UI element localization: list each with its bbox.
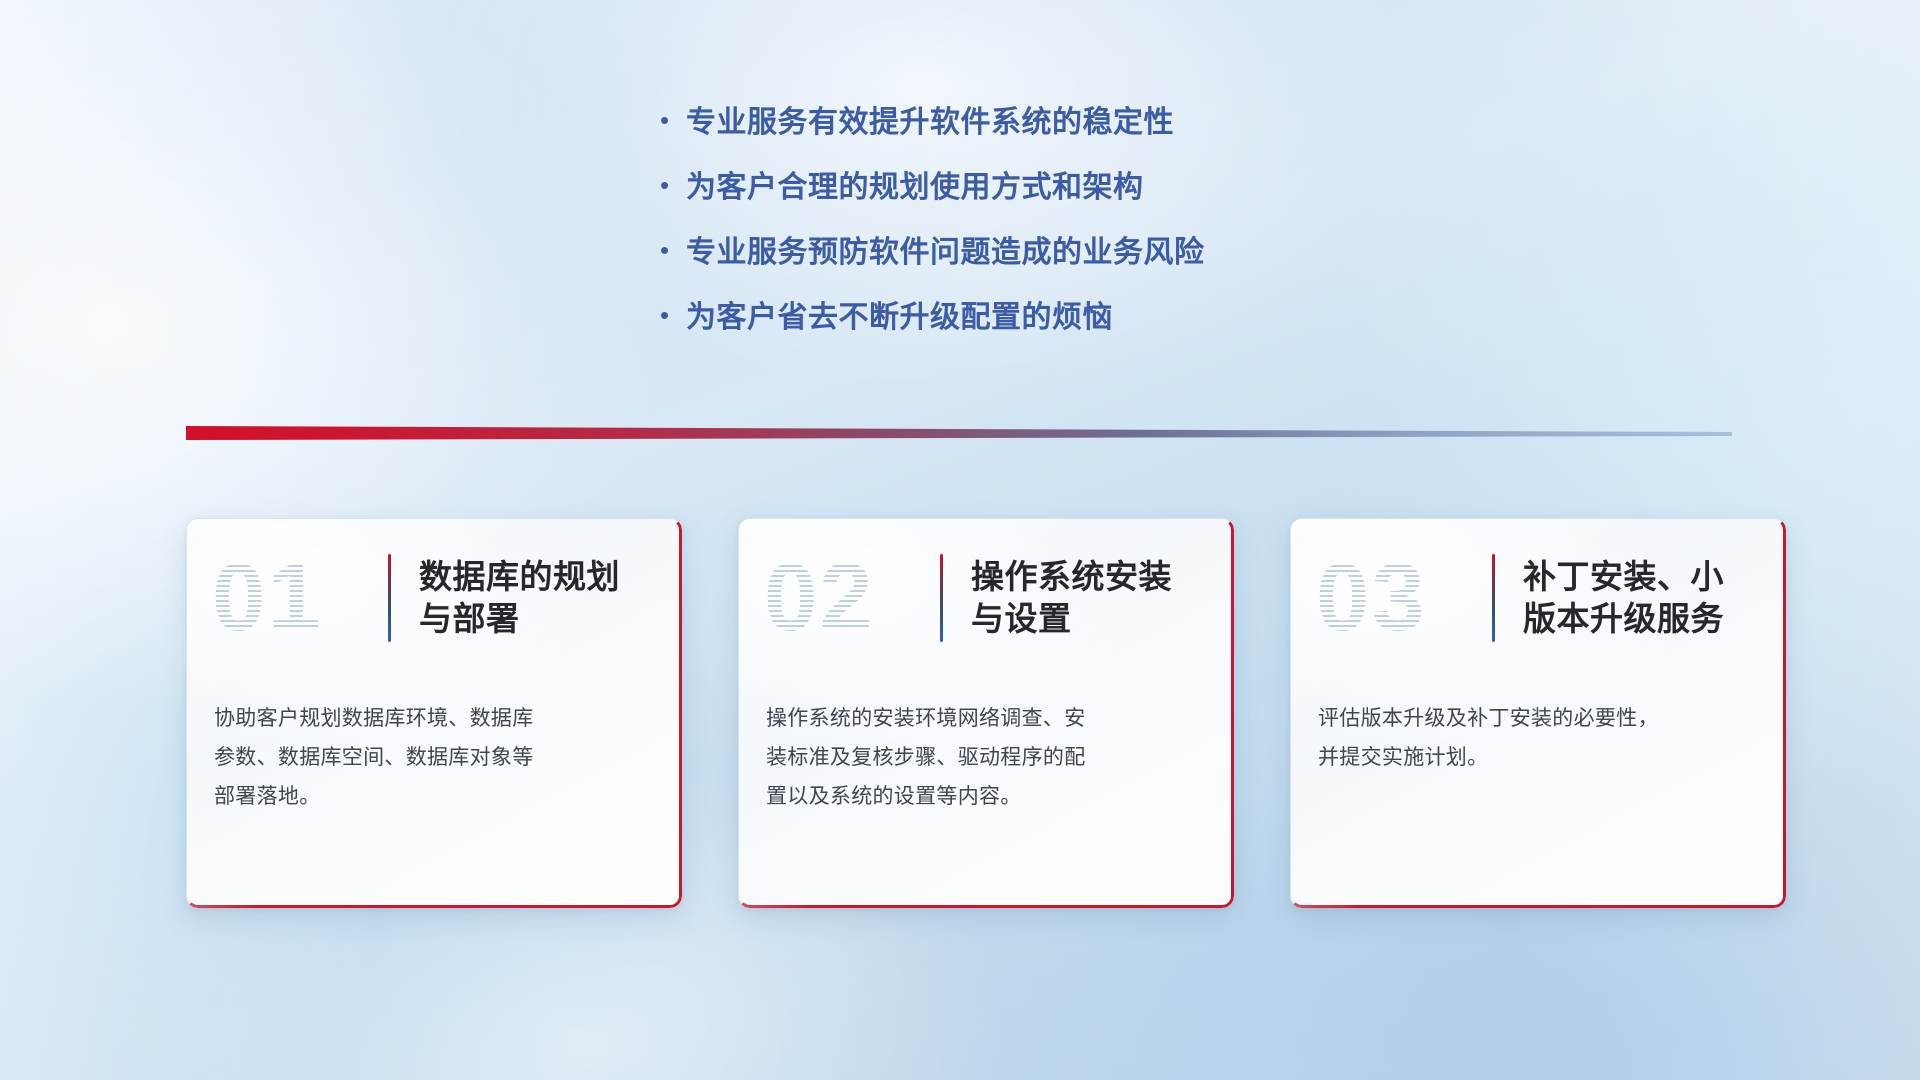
service-card-02[interactable]: 02 操作系统安装 与设置 操作系统的安装环境网络调查、安 装标准及复核步骤、驱… (738, 518, 1234, 908)
bullet-dot-icon: • (660, 237, 686, 263)
section-divider (186, 424, 1732, 444)
service-card-01[interactable]: 01 数据库的规划 与部署 协助客户规划数据库环境、数据库 参数、数据库空间、数… (186, 518, 682, 908)
card-description: 协助客户规划数据库环境、数据库 参数、数据库空间、数据库对象等 部署落地。 (186, 678, 682, 817)
bullet-dot-icon: • (660, 302, 686, 328)
slide-canvas: • 专业服务有效提升软件系统的稳定性 • 为客户合理的规划使用方式和架构 • 专… (0, 0, 1920, 1080)
card-title: 数据库的规划 与部署 (419, 556, 620, 640)
bullet-dot-icon: • (660, 172, 686, 198)
list-item: • 为客户省去不断升级配置的烦恼 (660, 303, 1420, 368)
bullet-list: • 专业服务有效提升软件系统的稳定性 • 为客户合理的规划使用方式和架构 • 专… (660, 108, 1420, 368)
card-description: 评估版本升级及补丁安装的必要性， 并提交实施计划。 (1290, 678, 1786, 778)
card-header: 01 数据库的规划 与部署 (186, 518, 682, 678)
bullet-item-label: 专业服务预防软件问题造成的业务风险 (686, 238, 1205, 268)
card-divider-rule (1492, 554, 1495, 642)
card-number-watermark: 03 (1316, 550, 1492, 646)
card-title: 操作系统安装 与设置 (971, 556, 1172, 640)
card-number-watermark: 01 (212, 550, 388, 646)
card-header: 03 补丁安装、小 版本升级服务 (1290, 518, 1786, 678)
bullet-item-label: 为客户省去不断升级配置的烦恼 (686, 303, 1113, 333)
bullet-dot-icon: • (660, 107, 686, 133)
bullet-item-label: 专业服务有效提升软件系统的稳定性 (686, 108, 1174, 138)
divider-wedge-icon (186, 424, 1732, 444)
bullet-item-label: 为客户合理的规划使用方式和架构 (686, 173, 1144, 203)
card-title: 补丁安装、小 版本升级服务 (1523, 556, 1724, 640)
card-description: 操作系统的安装环境网络调查、安 装标准及复核步骤、驱动程序的配 置以及系统的设置… (738, 678, 1234, 817)
list-item: • 专业服务有效提升软件系统的稳定性 (660, 108, 1420, 173)
card-divider-rule (940, 554, 943, 642)
list-item: • 为客户合理的规划使用方式和架构 (660, 173, 1420, 238)
card-divider-rule (388, 554, 391, 642)
card-row: 01 数据库的规划 与部署 协助客户规划数据库环境、数据库 参数、数据库空间、数… (186, 518, 1786, 908)
service-card-03[interactable]: 03 补丁安装、小 版本升级服务 评估版本升级及补丁安装的必要性， 并提交实施计… (1290, 518, 1786, 908)
list-item: • 专业服务预防软件问题造成的业务风险 (660, 238, 1420, 303)
card-number-watermark: 02 (764, 550, 940, 646)
card-header: 02 操作系统安装 与设置 (738, 518, 1234, 678)
